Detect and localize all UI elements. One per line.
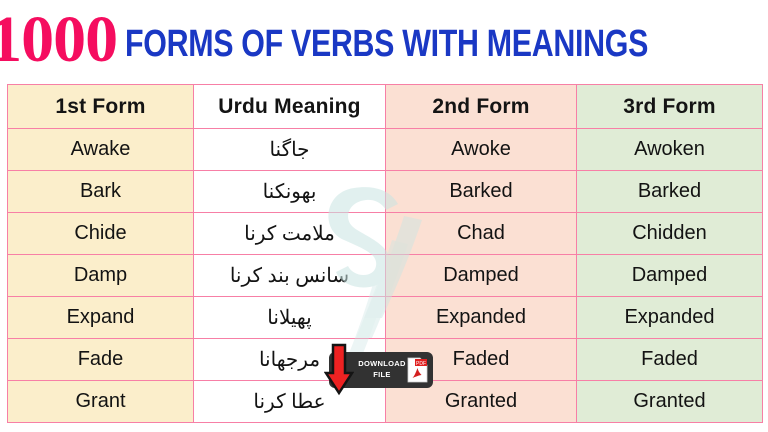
cell-first-form: Expand	[8, 297, 194, 339]
cell-urdu: سانس بند کرنا	[194, 255, 386, 297]
cell-urdu: پھیلانا	[194, 297, 386, 339]
cell-urdu: جاگنا	[194, 129, 386, 171]
pdf-file-icon: PDF	[407, 357, 428, 383]
cell-first-form: Damp	[8, 255, 194, 297]
table-row: Expand پھیلانا Expanded Expanded	[8, 297, 763, 339]
cell-third-form: Granted	[577, 381, 763, 423]
cell-third-form: Expanded	[577, 297, 763, 339]
download-label-line2: FILE	[358, 369, 406, 380]
cell-first-form: Bark	[8, 171, 194, 213]
table-row: Damp سانس بند کرنا Damped Damped	[8, 255, 763, 297]
download-label-line1: DOWNLOAD	[358, 358, 406, 369]
cell-third-form: Damped	[577, 255, 763, 297]
cell-second-form: Awoke	[386, 129, 577, 171]
header-first-form: 1st Form	[8, 85, 194, 129]
cell-third-form: Faded	[577, 339, 763, 381]
cell-second-form: Damped	[386, 255, 577, 297]
cell-second-form: Expanded	[386, 297, 577, 339]
title-text: FORMS OF VERBS WITH MEANINGS	[125, 25, 648, 63]
cell-third-form: Awoken	[577, 129, 763, 171]
cell-first-form: Fade	[8, 339, 194, 381]
download-file-button[interactable]: DOWNLOAD FILE PDF	[329, 352, 433, 388]
cell-second-form: Chad	[386, 213, 577, 255]
download-label: DOWNLOAD FILE	[358, 358, 406, 380]
table-row: Chide ملامت کرنا Chad Chidden	[8, 213, 763, 255]
table-header-row: 1st Form Urdu Meaning 2nd Form 3rd Form	[8, 85, 763, 129]
header-second-form: 2nd Form	[386, 85, 577, 129]
cell-first-form: Chide	[8, 213, 194, 255]
cell-first-form: Awake	[8, 129, 194, 171]
header-third-form: 3rd Form	[577, 85, 763, 129]
cell-second-form: Barked	[386, 171, 577, 213]
table-row: Bark بھونکنا Barked Barked	[8, 171, 763, 213]
cell-first-form: Grant	[8, 381, 194, 423]
cell-third-form: Barked	[577, 171, 763, 213]
cell-urdu: ملامت کرنا	[194, 213, 386, 255]
page-title: 1000 FORMS OF VERBS WITH MEANINGS	[0, 0, 768, 84]
download-arrow-icon	[324, 343, 354, 397]
header-urdu-meaning: Urdu Meaning	[194, 85, 386, 129]
pdf-icon-label: PDF	[416, 361, 426, 367]
cell-third-form: Chidden	[577, 213, 763, 255]
title-number: 1000	[0, 8, 117, 72]
cell-urdu: بھونکنا	[194, 171, 386, 213]
table-row: Awake جاگنا Awoke Awoken	[8, 129, 763, 171]
